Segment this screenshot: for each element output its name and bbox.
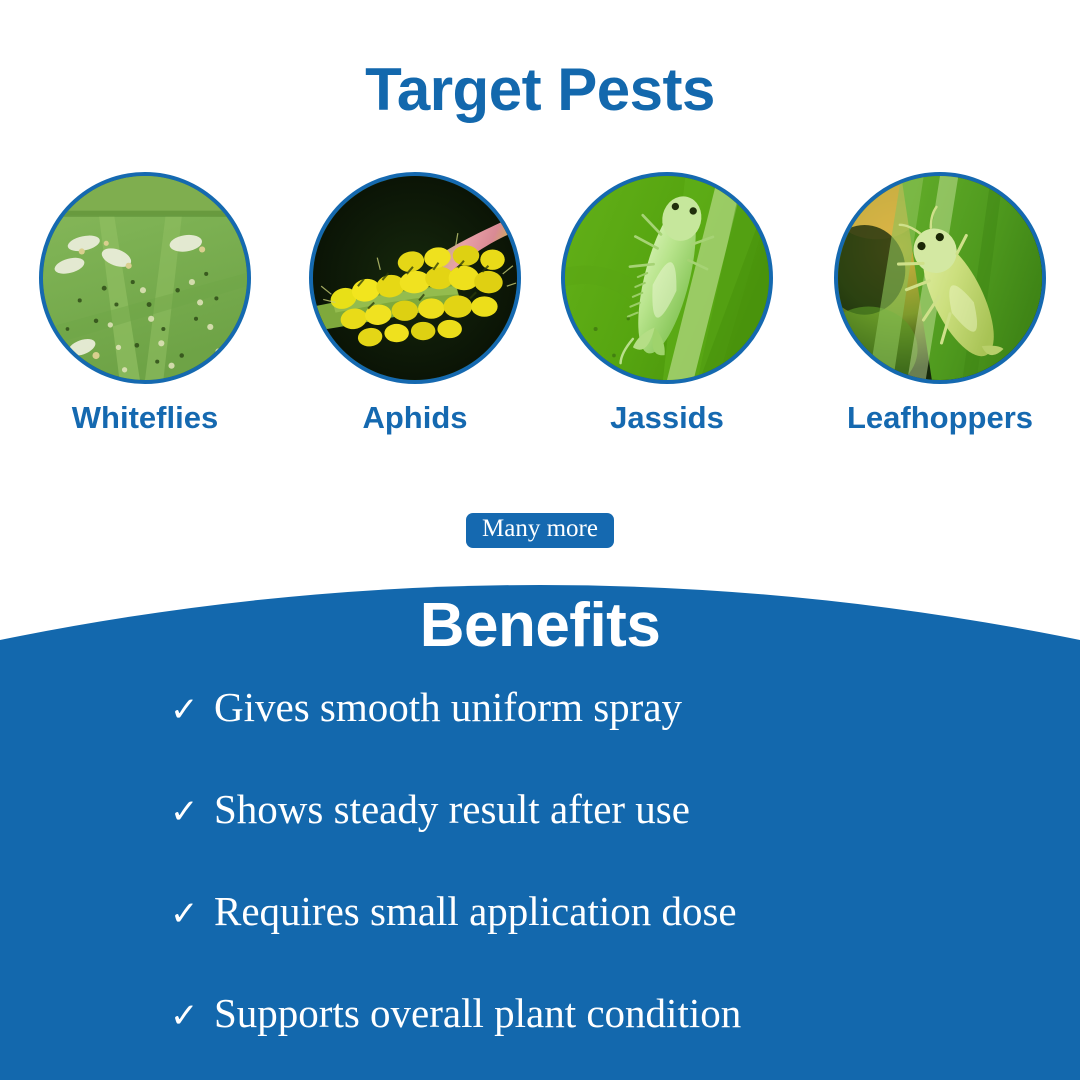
pest-card-jassids[interactable]: Jassids (552, 172, 782, 436)
benefit-item: ✓ Shows steady result after use (170, 785, 1080, 887)
pest-card-aphids[interactable]: Aphids (300, 172, 530, 436)
aphids-photo (309, 172, 521, 384)
page-title: Target Pests (0, 55, 1080, 124)
benefit-text: Requires small application dose (214, 887, 737, 935)
benefit-text: Supports overall plant condition (214, 989, 741, 1037)
check-icon: ✓ (170, 792, 214, 832)
pest-card-leafhoppers[interactable]: Leafhoppers (825, 172, 1055, 436)
pest-label-whiteflies: Whiteflies (30, 400, 260, 436)
benefits-content: Benefits ✓ Gives smooth uniform spray ✓ … (0, 590, 1080, 1091)
jassids-photo (561, 172, 773, 384)
benefits-title: Benefits (0, 590, 1080, 661)
benefit-item: ✓ Requires small application dose (170, 887, 1080, 989)
pest-gallery: Whiteflies (0, 172, 1080, 452)
check-icon: ✓ (170, 690, 214, 730)
pest-label-leafhoppers: Leafhoppers (825, 400, 1055, 436)
benefits-list: ✓ Gives smooth uniform spray ✓ Shows ste… (0, 683, 1080, 1091)
benefit-text: Gives smooth uniform spray (214, 683, 682, 731)
benefit-item: ✓ Supports overall plant condition (170, 989, 1080, 1091)
many-more-container: Many more (0, 513, 1080, 548)
many-more-badge[interactable]: Many more (466, 513, 614, 548)
leafhoppers-photo (834, 172, 1046, 384)
target-pests-section: Target Pests (0, 0, 1080, 565)
whiteflies-photo (39, 172, 251, 384)
benefit-text: Shows steady result after use (214, 785, 690, 833)
pest-card-whiteflies[interactable]: Whiteflies (30, 172, 260, 436)
benefit-item: ✓ Gives smooth uniform spray (170, 683, 1080, 785)
check-icon: ✓ (170, 894, 214, 934)
check-icon: ✓ (170, 996, 214, 1036)
pest-label-jassids: Jassids (552, 400, 782, 436)
pest-label-aphids: Aphids (300, 400, 530, 436)
